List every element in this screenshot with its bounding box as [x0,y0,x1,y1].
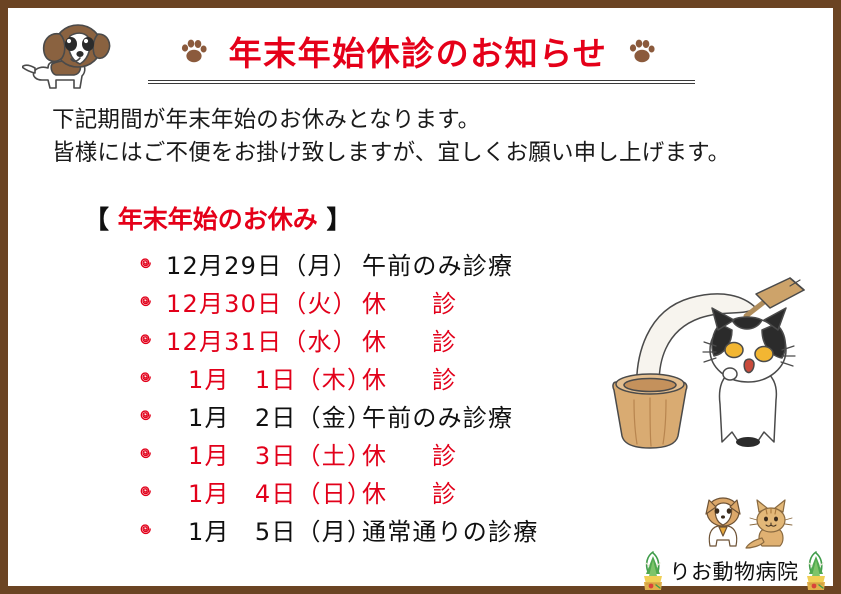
schedule-row: 1月 1日（木）休 診 [136,358,656,396]
poster-inner-area: 年末年始休診のお知らせ 下記期間が年末年始のお休みとなります。 皆様にはご不便を… [8,8,833,586]
beagle-puppy-illustration [22,18,114,96]
notice-body-line-2: 皆様にはご不便をお掛け致しますが、宜しくお願い申し上げます。 [52,137,812,170]
kadomatsu-icon-left [640,550,666,592]
kadomatsu-icon-right [803,550,829,592]
schedule-date: 1月 2日（金） [166,398,362,433]
bracket-close: 】 [326,205,351,234]
schedule-status: 通常通りの診療 [362,512,538,547]
schedule-date: 1月 3日（土） [166,436,362,471]
poster-header: 年末年始休診のお知らせ [8,12,833,90]
paw-print-icon-left [181,39,207,63]
spiral-swirl-icon [136,290,164,312]
clinic-name: りお動物病院 [670,556,799,586]
schedule-row: 12月31日（水）休 診 [136,320,656,358]
schedule-status: 休 診 [362,474,467,509]
notice-body-line-1: 下記期間が年末年始のお休みとなります。 [52,104,812,137]
schedule-status: 休 診 [362,360,467,395]
schedule-date: 1月 4日（日） [166,474,362,509]
schedule-status: 午前のみ診療 [362,246,513,281]
schedule-date: 1月 1日（木） [166,360,362,395]
section-heading-label: 年末年始のお休み [118,205,318,234]
notice-body: 下記期間が年末年始のお休みとなります。 皆様にはご不便をお掛け致しますが、宜しく… [52,104,812,170]
shiba-dog-kimono-illustration [706,498,740,546]
schedule-section-heading: 【 年末年始のお休み 】 [84,200,351,236]
spiral-swirl-icon [136,480,164,502]
schedule-row: 1月 2日（金）午前のみ診療 [136,396,656,434]
paw-print-icon-right [629,39,655,63]
spiral-swirl-icon [136,328,164,350]
clinic-signature-row: りお動物病院 [644,548,824,594]
schedule-date: 12月31日（水） [166,322,362,357]
schedule-status: 休 診 [362,322,467,357]
schedule-row: 12月29日（月）午前のみ診療 [136,244,656,282]
schedule-status: 午前のみ診療 [362,398,513,433]
schedule-status: 休 診 [362,436,467,471]
schedule-date: 1月 5日（月） [166,512,362,547]
tabby-cat-illustration [746,500,792,548]
holiday-notice-poster: 年末年始休診のお知らせ 下記期間が年末年始のお休みとなります。 皆様にはご不便を… [0,0,841,594]
schedule-row: 12月30日（火）休 診 [136,282,656,320]
spiral-swirl-icon [136,518,164,540]
schedule-row: 1月 3日（土）休 診 [136,434,656,472]
spiral-swirl-icon [136,404,164,426]
schedule-row: 1月 5日（月）通常通りの診療 [136,510,656,548]
spiral-swirl-icon [136,252,164,274]
page-title: 年末年始休診のお知らせ [229,27,608,75]
bracket-open: 【 [84,205,109,234]
schedule-date: 12月30日（火） [166,284,362,319]
spiral-swirl-icon [136,442,164,464]
schedule-status: 休 診 [362,284,467,319]
footer-animals-group [696,490,808,552]
holiday-schedule-list: 12月29日（月）午前のみ診療12月30日（火）休 診12月31日（水）休 診1… [136,244,656,548]
schedule-date: 12月29日（月） [166,246,362,281]
spiral-swirl-icon [136,366,164,388]
schedule-row: 1月 4日（日）休 診 [136,472,656,510]
title-row: 年末年始休診のお知らせ [138,26,698,76]
cat-pounding-mochi-illustration [604,276,834,466]
title-divider-double-rule [148,80,695,84]
